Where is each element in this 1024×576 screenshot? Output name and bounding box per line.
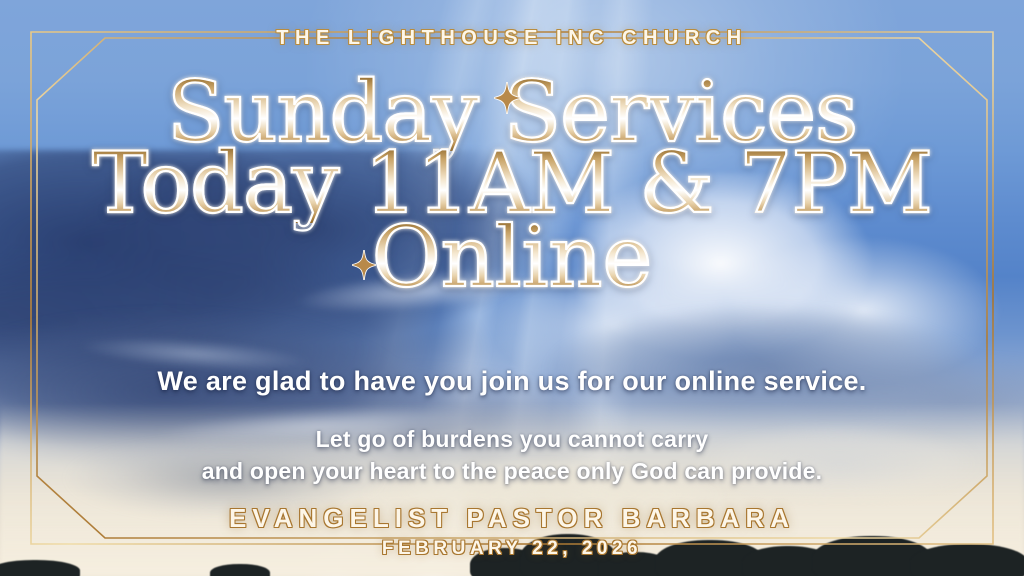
headline-block: Sunday Services Today 11AM & 7PM Online: [0, 74, 1024, 296]
welcome-text: We are glad to have you join us for our …: [0, 366, 1024, 397]
message-line-2: and open your heart to the peace only Go…: [0, 456, 1024, 488]
message-line-1: Let go of burdens you cannot carry: [0, 424, 1024, 456]
message-text: Let go of burdens you cannot carry and o…: [0, 424, 1024, 487]
flyer-canvas: THE LIGHTHOUSE INC CHURCH Sunday Service…: [0, 0, 1024, 576]
headline-line-3: Online: [0, 219, 1024, 296]
church-name: THE LIGHTHOUSE INC CHURCH: [0, 27, 1024, 50]
flyer-content: THE LIGHTHOUSE INC CHURCH Sunday Service…: [0, 0, 1024, 576]
speaker-name: EVANGELIST PASTOR BARBARA: [0, 503, 1024, 534]
service-date: FEBRUARY 22, 2026: [0, 538, 1024, 560]
